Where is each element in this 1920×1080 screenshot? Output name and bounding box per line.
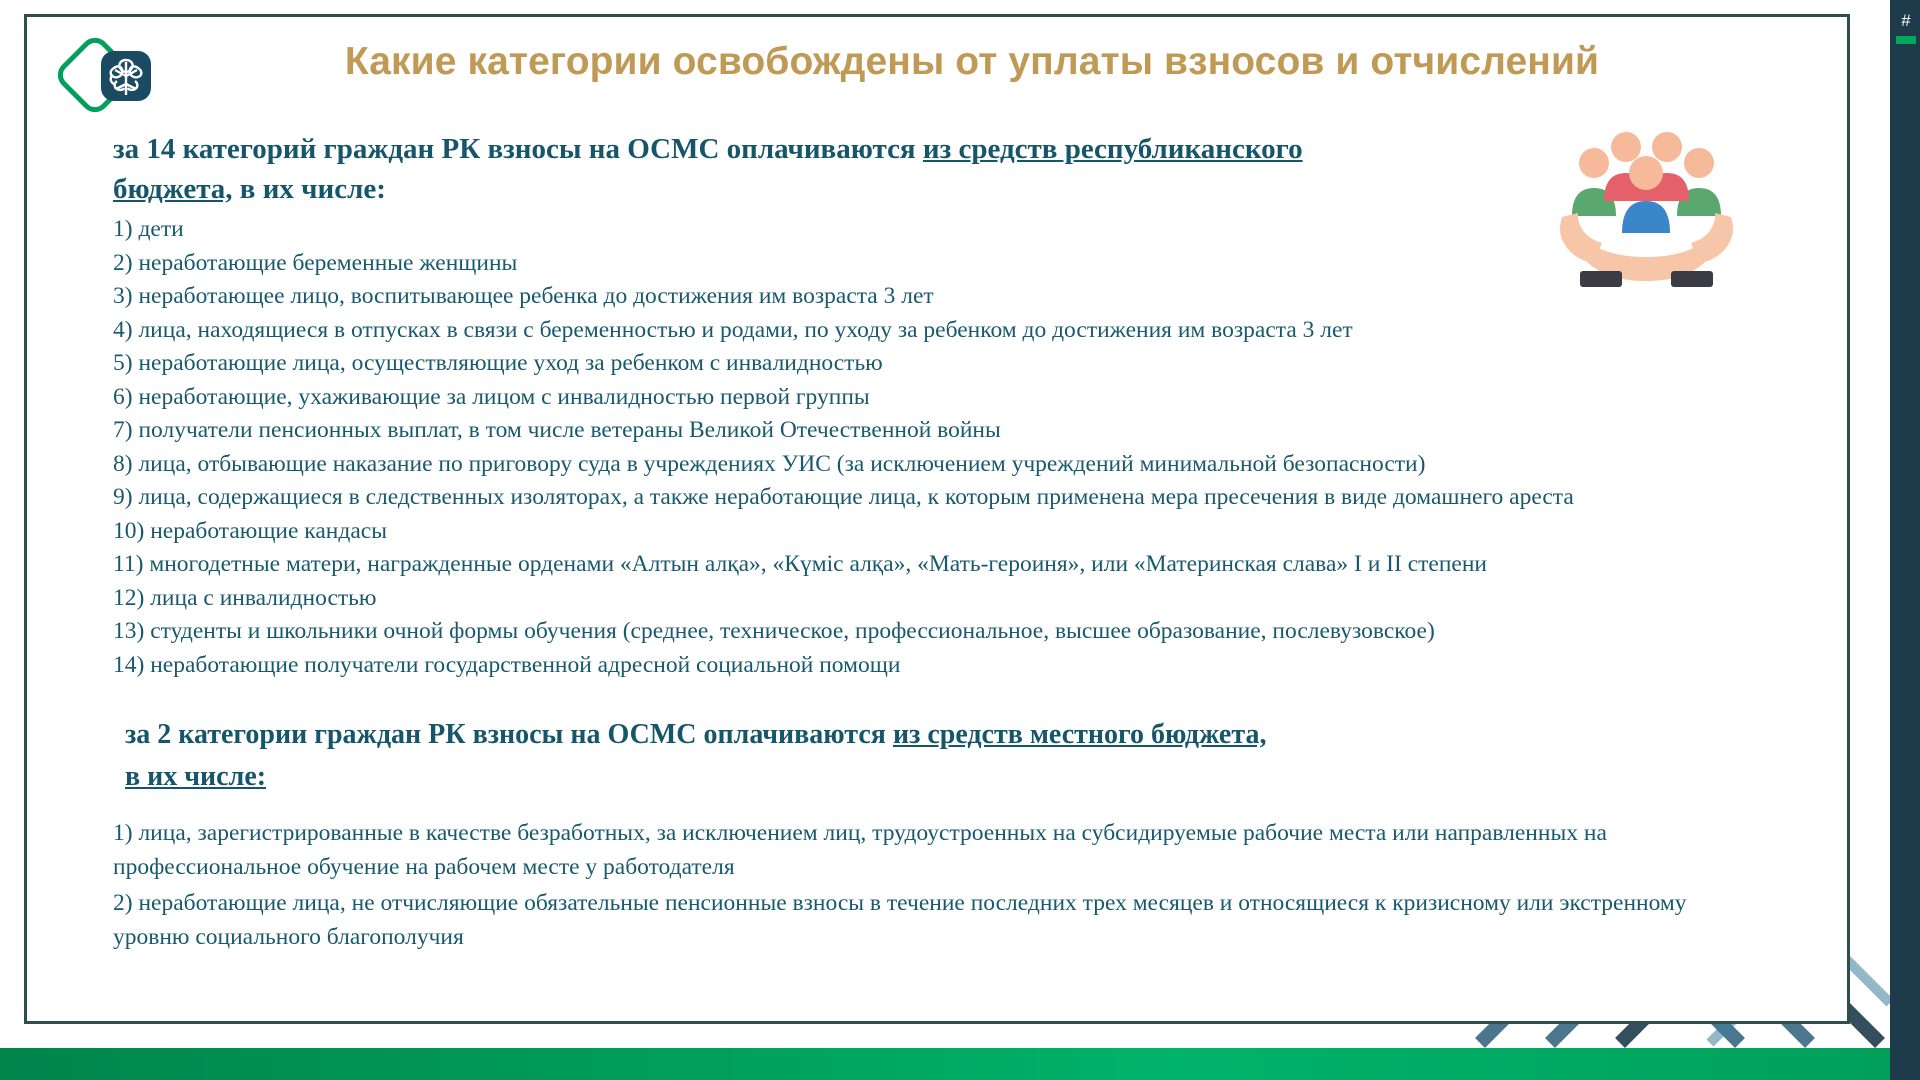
right-edge-strip xyxy=(1890,0,1920,1080)
section2-lead: за 2 категории граждан РК взносы на ОСМС… xyxy=(125,714,1625,798)
list-item: 12) лица с инвалидностью xyxy=(113,582,1793,616)
slide-body: за 14 категорий граждан РК взносы на ОСМ… xyxy=(113,129,1793,956)
list-item: 2) неработающие беременные женщины xyxy=(113,247,1793,281)
list-item: 2) неработающие лица, не отчисляющие обя… xyxy=(113,886,1733,954)
osms-logo xyxy=(57,29,167,129)
section1-lead-part1: за 14 категорий граждан РК взносы на ОСМ… xyxy=(113,133,923,165)
slide-root: # xyxy=(0,0,1920,1080)
section1-list: 1) дети 2) неработающие беременные женщи… xyxy=(113,213,1793,682)
page-title: Какие категории освобождены от уплаты вз… xyxy=(192,39,1752,85)
section2-lead-underlined: из средств местного бюджета, xyxy=(893,719,1267,750)
section2-lead-underlined2: в их числе: xyxy=(125,761,266,792)
section2-list: 1) лица, зарегистрированные в качестве б… xyxy=(113,816,1793,954)
list-item: 5) неработающие лица, осуществляющие ухо… xyxy=(113,347,1793,381)
list-item: 10) неработающие кандасы xyxy=(113,515,1793,549)
list-item: 6) неработающие, ухаживающие за лицом с … xyxy=(113,381,1793,415)
list-item: 9) лица, содержащиеся в следственных изо… xyxy=(113,481,1793,515)
list-item: 14) неработающие получатели государствен… xyxy=(113,649,1793,683)
list-item: 1) дети xyxy=(113,213,1793,247)
hash-icon: # xyxy=(1894,10,1918,32)
section1-lead-part2: в их числе: xyxy=(233,173,386,205)
section1-lead: за 14 категорий граждан РК взносы на ОСМ… xyxy=(113,129,1313,209)
list-item: 1) лица, зарегистрированные в качестве б… xyxy=(113,816,1733,884)
list-item: 13) студенты и школьники очной формы обу… xyxy=(113,615,1793,649)
list-item: 7) получатели пенсионных выплат, в том ч… xyxy=(113,414,1793,448)
section2-lead-part1: за 2 категории граждан РК взносы на ОСМС… xyxy=(125,719,893,750)
right-edge-green-marker xyxy=(1896,36,1916,44)
bottom-green-bar xyxy=(0,1048,1890,1080)
list-item: 8) лица, отбывающие наказание по пригово… xyxy=(113,448,1793,482)
list-item: 4) лица, находящиеся в отпусках в связи … xyxy=(113,314,1793,348)
slide-card: Какие категории освобождены от уплаты вз… xyxy=(24,14,1850,1024)
list-item: 3) неработающее лицо, воспитывающее ребе… xyxy=(113,280,1793,314)
list-item: 11) многодетные матери, награжденные орд… xyxy=(113,548,1793,582)
